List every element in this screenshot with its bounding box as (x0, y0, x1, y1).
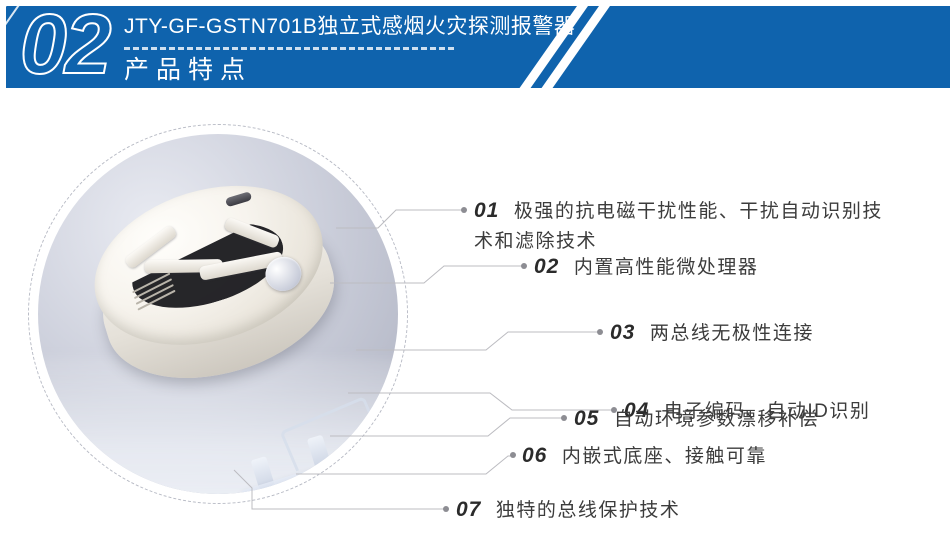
section-numeral-text: 02 (20, 6, 109, 88)
feature-number-01: 01 (474, 199, 499, 222)
bullet-dot-06 (510, 452, 516, 458)
feature-item-01: 01 极强的抗电磁干扰性能、干扰自动识别技 术和滤除技术 (474, 196, 944, 253)
feature-text-01: 极强的抗电磁干扰性能、干扰自动识别技 (514, 201, 883, 222)
bullet-dot-02 (521, 263, 527, 269)
feature-number-03: 03 (610, 321, 635, 344)
bullet-dot-01 (461, 207, 467, 213)
feature-number-07: 07 (456, 498, 481, 521)
page-title: JTY-GF-GSTN701B独立式感烟火灾探测报警器 (124, 12, 575, 42)
product-feature-infographic: 02 JTY-GF-GSTN701B独立式感烟火灾探测报警器 产品特点 (0, 0, 950, 551)
feature-text-05: 自动环境参数漂移补偿 (614, 409, 819, 430)
section-numeral: 02 (20, 6, 140, 88)
product-photo (22, 118, 414, 518)
bullet-dot-03 (597, 329, 603, 335)
bullet-dot-07 (443, 506, 449, 512)
photo-circle-image (38, 134, 398, 494)
feature-text-01-line2: 术和滤除技术 (474, 226, 944, 253)
feature-item-06: 06 内嵌式底座、接触可靠 (522, 441, 922, 468)
header-blue-bar: 02 JTY-GF-GSTN701B独立式感烟火灾探测报警器 产品特点 (6, 6, 950, 88)
feature-text-07: 独特的总线保护技术 (496, 500, 681, 521)
feature-number-06: 06 (522, 444, 547, 467)
feature-item-03: 03 两总线无极性连接 (610, 318, 950, 345)
feature-item-05: 05 自动环境参数漂移补偿 (574, 404, 944, 431)
section-subtitle: 产品特点 (124, 53, 252, 87)
title-dashed-divider (124, 47, 454, 50)
feature-text-06: 内嵌式底座、接触可靠 (562, 446, 767, 467)
detector-fin (224, 217, 281, 249)
feature-text-03: 两总线无极性连接 (650, 323, 814, 344)
feature-number-02: 02 (534, 255, 559, 278)
feature-item-02: 02 内置高性能微处理器 (534, 252, 934, 279)
feature-text-02: 内置高性能微处理器 (574, 257, 759, 278)
feature-item-07: 07 独特的总线保护技术 (456, 495, 876, 522)
header: 02 JTY-GF-GSTN701B独立式感烟火灾探测报警器 产品特点 (0, 0, 950, 95)
feature-number-05: 05 (574, 407, 599, 430)
bullet-dot-05 (561, 415, 567, 421)
